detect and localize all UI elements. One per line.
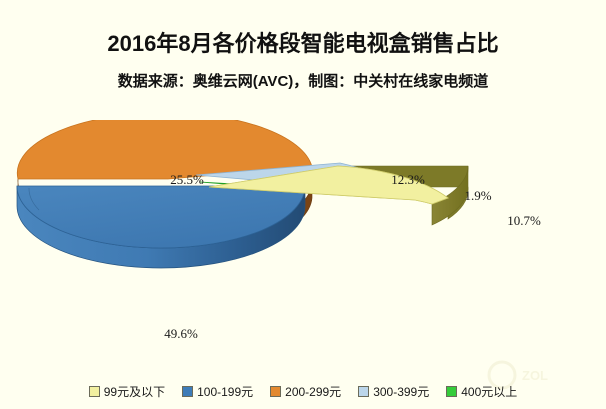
data-label-100-199: 49.6% [164, 326, 198, 341]
legend-label-3: 300-399元 [373, 383, 429, 400]
legend-item-3[interactable]: 300-399元 [358, 383, 429, 400]
chart-title: 2016年8月各价格段智能电视盒销售占比 [0, 26, 606, 58]
chart-legend: 99元及以下 100-199元 200-299元 300-399元 400元以上 [0, 383, 606, 400]
legend-swatch-icon-2 [270, 386, 281, 397]
legend-item-4[interactable]: 400元以上 [446, 383, 517, 400]
legend-label-0: 99元及以下 [104, 383, 165, 400]
legend-item-1[interactable]: 100-199元 [182, 383, 253, 400]
legend-label-4: 400元以上 [461, 383, 517, 400]
legend-swatch-icon-0 [89, 386, 100, 397]
watermark-text: ZOL [522, 368, 548, 383]
data-label-99-and-below: 10.7% [507, 213, 541, 228]
legend-item-2[interactable]: 200-299元 [270, 383, 341, 400]
legend-label-2: 200-299元 [285, 383, 341, 400]
pie-chart-figure: 2016年8月各价格段智能电视盒销售占比 数据来源：奥维云网(AVC)，制图：中… [0, 0, 606, 409]
legend-swatch-icon-3 [358, 386, 369, 397]
legend-swatch-icon-4 [446, 386, 457, 397]
data-label-200-299: 25.5% [170, 172, 204, 187]
data-label-400-and-above: 1.9% [464, 188, 491, 203]
legend-label-1: 100-199元 [197, 383, 253, 400]
chart-subtitle: 数据来源：奥维云网(AVC)，制图：中关村在线家电频道 [0, 70, 606, 91]
data-label-300-399: 12.3% [391, 172, 425, 187]
legend-swatch-icon-1 [182, 386, 193, 397]
legend-item-0[interactable]: 99元及以下 [89, 383, 165, 400]
pie-chart-canvas: 25.5% 12.3% 1.9% 10.7% 49.6% [0, 120, 606, 370]
